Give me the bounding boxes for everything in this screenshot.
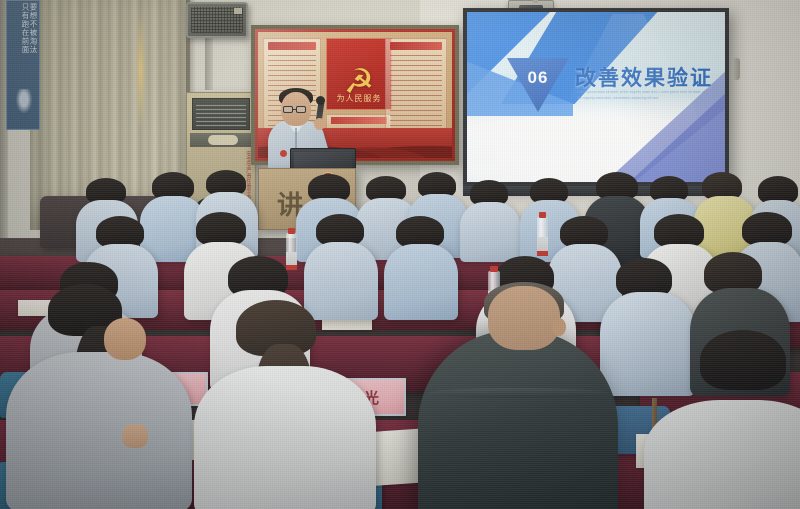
poster-column-text (390, 53, 442, 126)
hoodie-fold (428, 388, 608, 398)
wall-pen-holder (733, 58, 740, 80)
audience-hand (122, 424, 148, 448)
wall-speaker-icon (186, 2, 248, 38)
poster-center-emblem-panel: ☭ 为人民服务 (326, 38, 392, 110)
projected-slide: 06 改善效果验证 Lorem ipsum dolor sit amet, at… (467, 12, 725, 182)
bottle-cap (490, 266, 497, 272)
presenter-badge (280, 150, 287, 157)
poster-column-heading (268, 42, 316, 50)
speaker-led (234, 8, 242, 14)
motivational-poster-text: 要想不被淘汰 只有跑在前面 (11, 3, 37, 83)
bottle-body (537, 217, 548, 256)
audience-hair (196, 212, 246, 246)
bottle-cap (539, 212, 546, 218)
audience-torso (644, 400, 800, 509)
presenter-hand (314, 118, 325, 130)
laptop-screen (294, 152, 352, 168)
water-bottle (537, 212, 548, 256)
foreground-person-ear (552, 318, 566, 336)
presenter-glasses-bridge (293, 109, 297, 110)
curtain-highlight (138, 10, 143, 130)
poster-text-column-right (385, 38, 447, 130)
bottle-body (286, 233, 297, 270)
projection-screen: 06 改善效果验证 Lorem ipsum dolor sit amet, at… (463, 8, 729, 186)
water-bottle (286, 228, 297, 270)
projector-mount-arm (533, 0, 538, 3)
poster-center-caption: 为人民服务 (333, 93, 385, 105)
audience-hair (700, 330, 786, 390)
presenter-glasses-right (296, 106, 306, 113)
audience-torso-writing (6, 352, 192, 509)
microphone-head (316, 96, 325, 105)
presenter-glasses-left (283, 106, 293, 113)
audience-torso (304, 242, 378, 320)
notice-board (192, 98, 250, 130)
motivational-poster-left: 要想不被淘汰 只有跑在前面 (6, 0, 40, 130)
foreground-person-head (488, 286, 560, 350)
audience-head (104, 318, 146, 360)
audience-torso (194, 366, 376, 509)
audience-hair (742, 212, 792, 246)
running-figure-icon (15, 89, 33, 115)
cabinet-plate (208, 135, 238, 145)
cabinet-band (190, 133, 252, 147)
bottle-label-stripe (537, 251, 548, 256)
audience-hair (654, 214, 704, 248)
bottle-cap (288, 228, 295, 234)
conference-room-photo: 要想不被淘汰 只有跑在前面 安全生产责任重于泰山 ☭ 为人民服务 (0, 0, 800, 509)
notice-board-text-lines (196, 102, 246, 126)
slide-subtitle: Lorem ipsum dolor sit amet, at the major… (577, 90, 709, 102)
foreground-person-torso (418, 330, 618, 509)
audience-torso (600, 292, 696, 396)
audience-torso (460, 202, 520, 262)
speaker-mount-bracket (205, 38, 213, 90)
slide-title: 改善效果验证 (575, 62, 713, 92)
bottle-label-stripe (286, 265, 297, 270)
poster-column-heading (390, 42, 442, 50)
audience-torso (384, 244, 458, 320)
poster-subsection-heading (331, 117, 387, 124)
